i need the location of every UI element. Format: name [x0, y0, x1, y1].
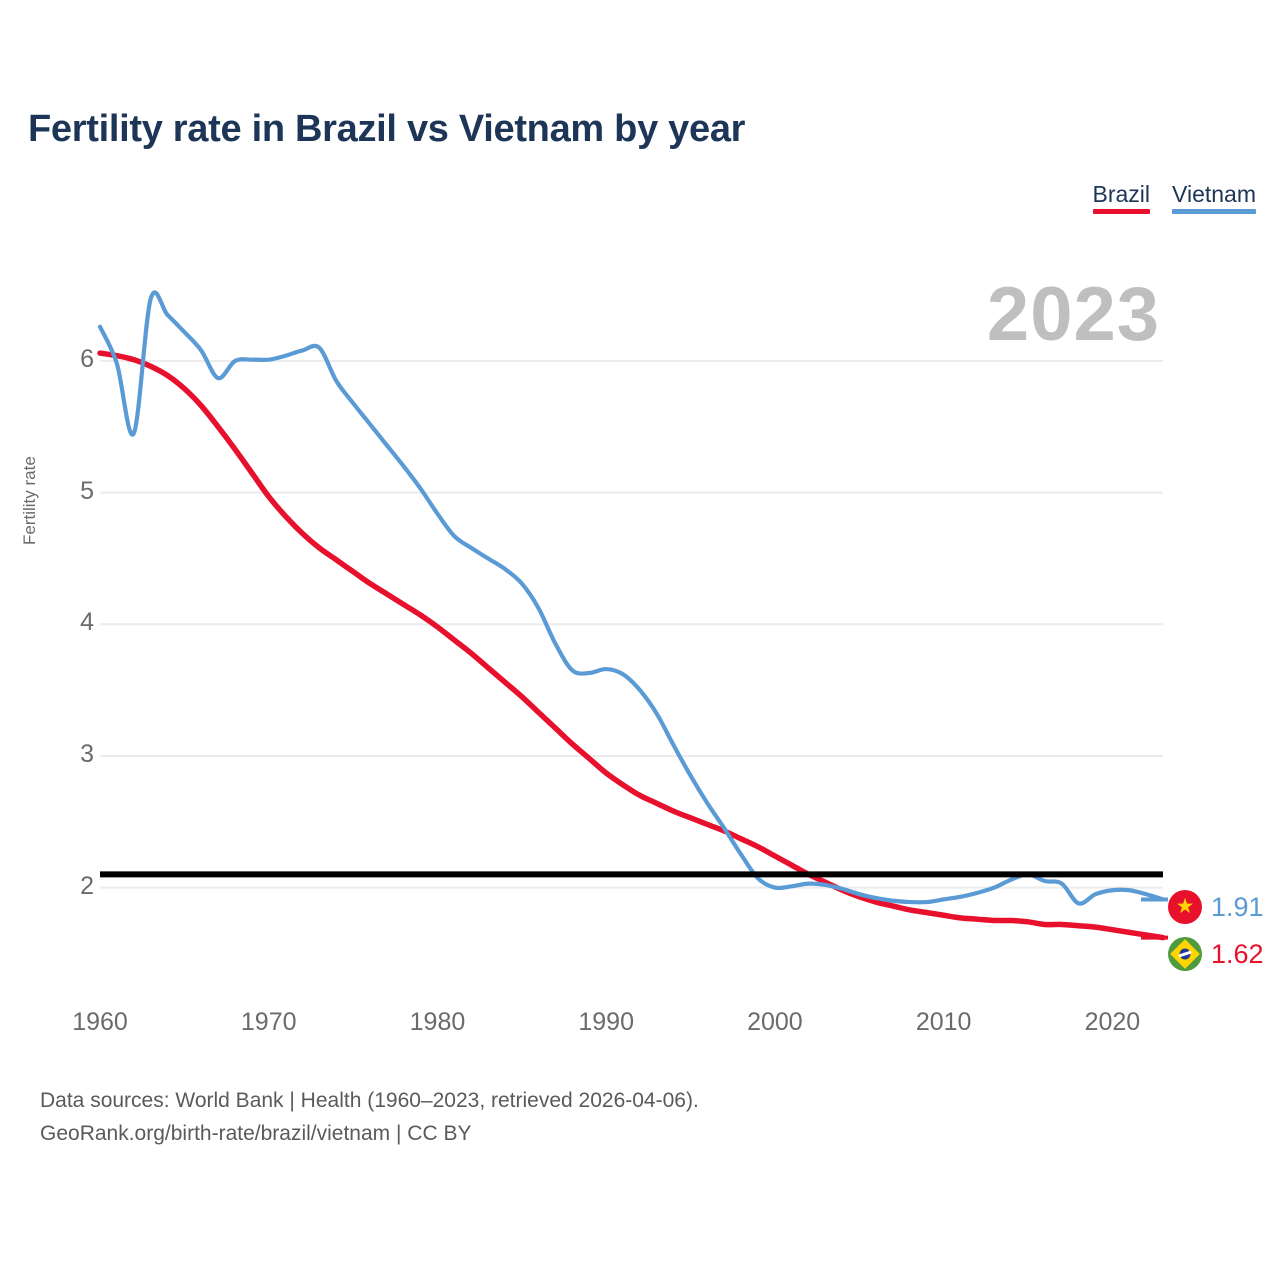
series-line-vietnam	[100, 292, 1163, 903]
x-tick-label-2010: 2010	[916, 1010, 972, 1035]
end-marker-brazil[interactable]: 1.62	[1168, 937, 1264, 971]
y-tick-label-6: 6	[80, 347, 94, 372]
series-line-brazil	[100, 353, 1163, 938]
y-tick-label-2: 2	[80, 874, 94, 899]
x-tick-label-2020: 2020	[1085, 1010, 1141, 1035]
x-tick-label-1960: 1960	[72, 1010, 128, 1035]
end-value-vietnam: 1.91	[1211, 894, 1264, 921]
brazil-flag-icon	[1168, 937, 1202, 971]
vietnam-flag-icon: ★	[1168, 890, 1202, 924]
footer: Data sources: World Bank | Health (1960–…	[40, 1085, 699, 1150]
x-tick-label-2000: 2000	[747, 1010, 803, 1035]
y-tick-label-5: 5	[80, 479, 94, 504]
y-tick-label-3: 3	[80, 742, 94, 767]
x-tick-label-1970: 1970	[241, 1010, 297, 1035]
chart-page: Fertility rate in Brazil vs Vietnam by y…	[0, 0, 1280, 1280]
y-tick-label-4: 4	[80, 610, 94, 635]
end-value-brazil: 1.62	[1211, 941, 1264, 968]
star-glyph: ★	[1176, 896, 1195, 917]
footer-line-1: Data sources: World Bank | Health (1960–…	[40, 1085, 699, 1118]
footer-line-2: GeoRank.org/birth-rate/brazil/vietnam | …	[40, 1118, 699, 1151]
x-tick-label-1990: 1990	[578, 1010, 634, 1035]
end-marker-vietnam[interactable]: ★ 1.91	[1168, 890, 1264, 924]
x-tick-label-1980: 1980	[410, 1010, 466, 1035]
